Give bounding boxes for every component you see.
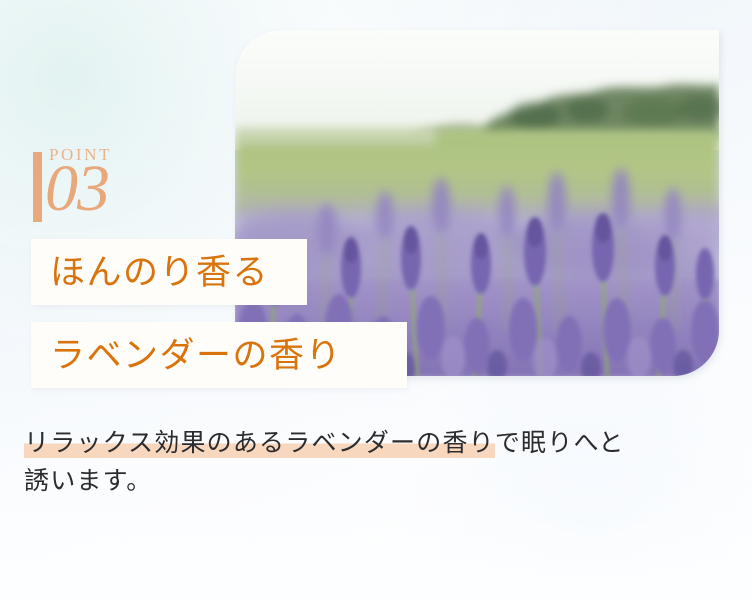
body-line-1: リラックス効果のあるラベンダーの香りで眠りへと: [24, 424, 736, 462]
body-highlight: リラックス効果のあるラベンダーの香り: [24, 429, 495, 458]
point-accent-bar: [33, 152, 42, 222]
headline-box-primary: ほんのり香る: [31, 239, 307, 305]
body-line-2: 誘います。: [24, 462, 736, 500]
body-copy: リラックス効果のあるラベンダーの香りで眠りへと 誘います。: [24, 424, 736, 500]
headline-box-secondary: ラベンダーの香り: [31, 322, 407, 388]
headline-text-1: ほんのり香る: [50, 255, 269, 290]
body-line-1-tail: で眠りへと: [495, 429, 625, 457]
point-section: POINT 03 ほんのり香る ラベンダーの香り リラックス効果のあるラベンダー…: [0, 0, 752, 600]
point-number: 03: [45, 156, 109, 222]
point-block: POINT 03: [31, 146, 221, 230]
headline-text-2: ラベンダーの香り: [50, 338, 342, 373]
